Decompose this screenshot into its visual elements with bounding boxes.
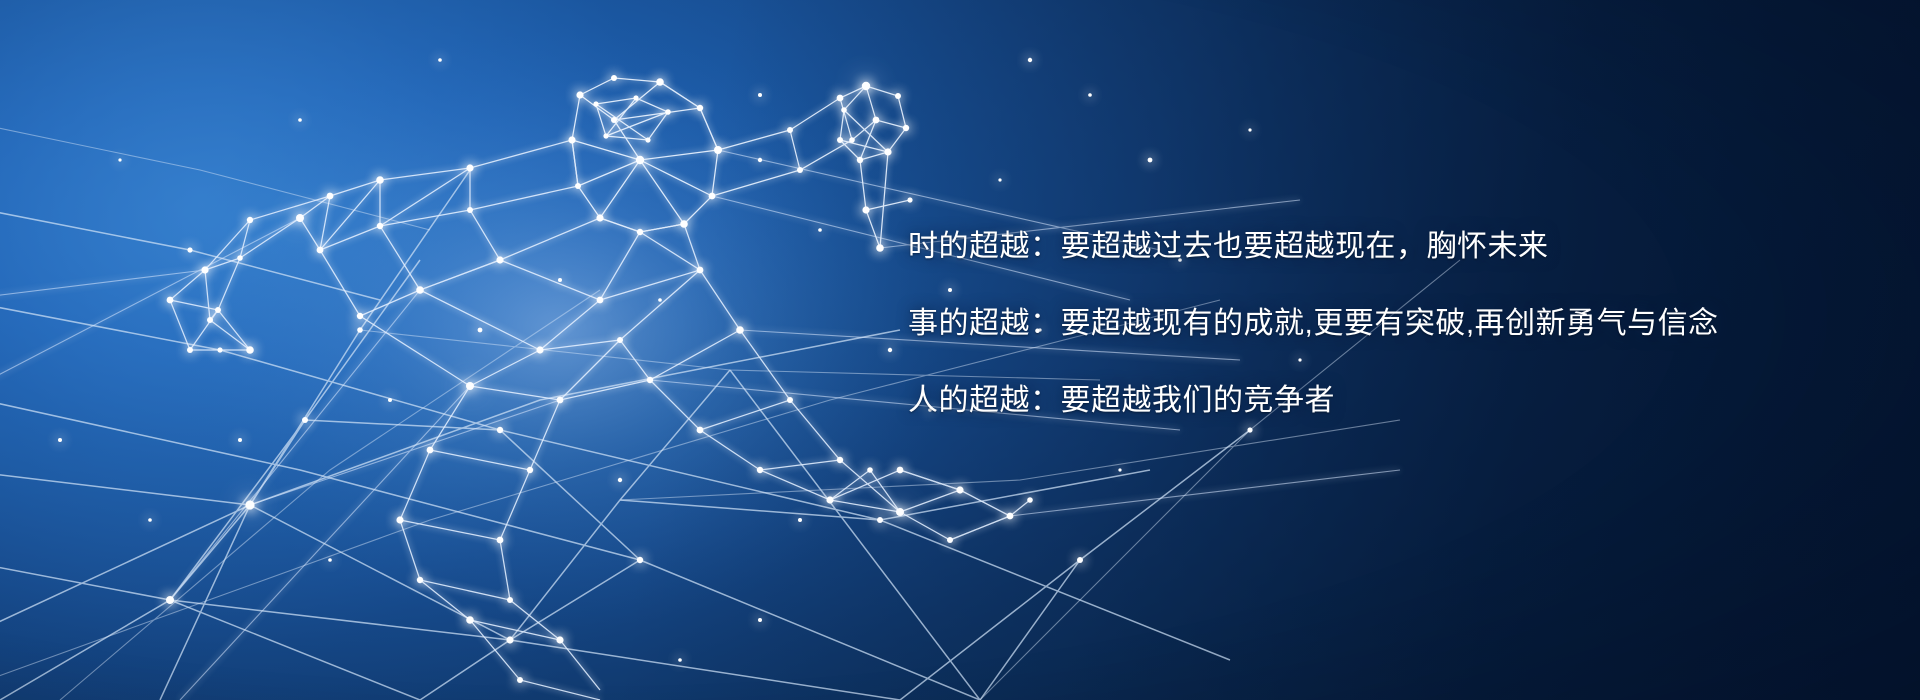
slogan-line-time: 时的超越：要超越过去也要超越现在，胸怀未来 [908,232,1808,262]
slogan-line-people: 人的超越：要超越我们的竞争者 [908,386,1808,416]
hero-banner: 时的超越：要超越过去也要超越现在，胸怀未来 事的超越：要超越现有的成就,更要有突… [0,0,1920,700]
slogan-block: 时的超越：要超越过去也要超越现在，胸怀未来 事的超越：要超越现有的成就,更要有突… [908,232,1808,416]
slogan-line-achievement: 事的超越：要超越现有的成就,更要有突破,再创新勇气与信念 [908,309,1808,339]
